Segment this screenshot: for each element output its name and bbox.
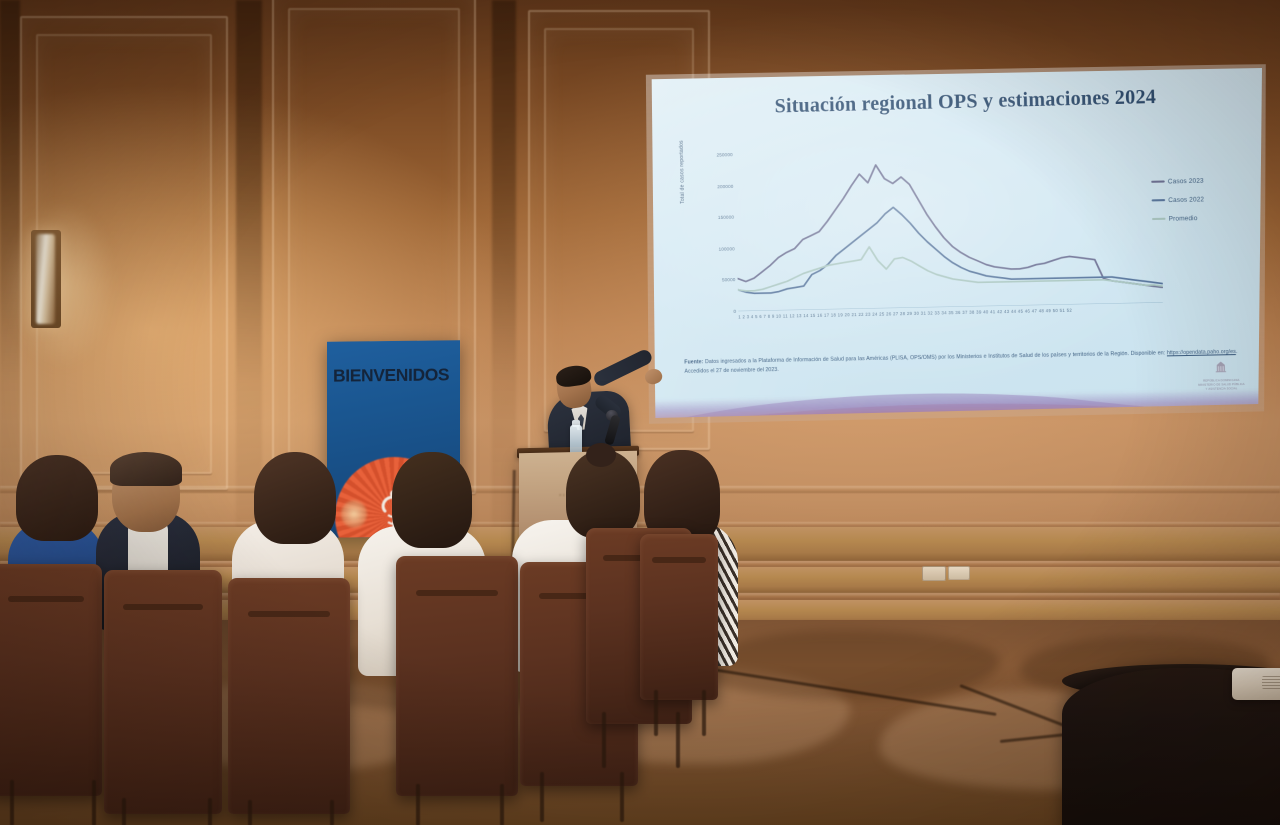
source-label: Fuente: <box>684 359 703 366</box>
banquet-chair[interactable] <box>104 570 222 814</box>
source-body: Datos ingresados a la Plataforma de Info… <box>703 350 1167 365</box>
y-axis-title: Total de casos reportados <box>679 140 686 204</box>
chair-leg <box>416 784 420 825</box>
legend-color-swatch <box>1152 200 1166 202</box>
conference-room-scene: Situación regional OPS y estimaciones 20… <box>0 0 1280 825</box>
chart-plot-area <box>735 144 1163 311</box>
banner-title: BIENVENIDOS <box>333 364 458 386</box>
chair-leg <box>92 780 96 825</box>
chair-leg <box>500 784 504 825</box>
power-outlet-icon <box>922 566 946 581</box>
y-axis-tick-label: 50000 <box>722 277 736 282</box>
audience-hair <box>110 452 182 486</box>
table-flower-decor <box>341 500 367 528</box>
banquet-chair[interactable] <box>0 564 102 796</box>
y-axis-tick-label: 250000 <box>716 152 732 158</box>
chart-legend: Casos 2023Casos 2022Promedio <box>1151 177 1205 223</box>
y-axis-tick-label: 0 <box>733 309 736 314</box>
chair-leg <box>654 690 658 736</box>
chair-leg <box>122 798 126 825</box>
dengue-cases-line-chart: Total de casos reportados 05000010000015… <box>680 144 1164 342</box>
chair-leg <box>330 800 334 825</box>
legend-item: Promedio <box>1152 214 1205 222</box>
source-link[interactable]: https://opendata.paho.org/es <box>1167 349 1236 357</box>
projected-slide: Situación regional OPS y estimaciones 20… <box>637 55 1277 429</box>
chart-lines-svg <box>735 144 1163 311</box>
audience-hair <box>254 452 336 544</box>
chair-leg <box>602 712 606 768</box>
projector-vent-icon <box>1262 676 1280 689</box>
sconce-light-icon <box>36 234 55 324</box>
legend-color-swatch <box>1152 218 1166 220</box>
legend-item: Casos 2023 <box>1151 177 1204 185</box>
projection-screen[interactable]: Situación regional OPS y estimaciones 20… <box>648 68 1262 418</box>
chair-leg <box>208 798 212 825</box>
audience-hair-bun <box>586 443 616 467</box>
banquet-chair[interactable] <box>640 534 718 700</box>
chair-leg <box>676 712 680 768</box>
slide-title: Situación regional OPS y estimaciones 20… <box>713 85 1219 120</box>
banquet-chair[interactable] <box>228 578 350 814</box>
legend-label: Promedio <box>1169 215 1198 223</box>
y-axis-tick-label: 200000 <box>717 183 733 188</box>
y-axis-tick-label: 100000 <box>719 246 735 251</box>
chair-leg <box>10 780 14 825</box>
chair-leg <box>620 772 624 822</box>
legend-label: Casos 2023 <box>1168 177 1204 185</box>
legend-color-swatch <box>1151 181 1165 183</box>
legend-label: Casos 2022 <box>1168 196 1204 204</box>
wall-plate-icon <box>948 566 970 580</box>
chair-leg <box>248 800 252 825</box>
legend-item: Casos 2022 <box>1152 196 1205 204</box>
y-axis-tick-label: 150000 <box>718 215 734 220</box>
audience-hair <box>16 455 98 541</box>
wall-chair-rail <box>0 486 1280 493</box>
banquet-chair[interactable] <box>396 556 518 796</box>
wall-panel-inner <box>36 34 212 474</box>
y-axis-ticks: 050000100000150000200000250000 <box>694 155 736 312</box>
chair-leg <box>540 772 544 822</box>
audience-hair <box>392 452 472 548</box>
chair-leg <box>702 690 706 736</box>
